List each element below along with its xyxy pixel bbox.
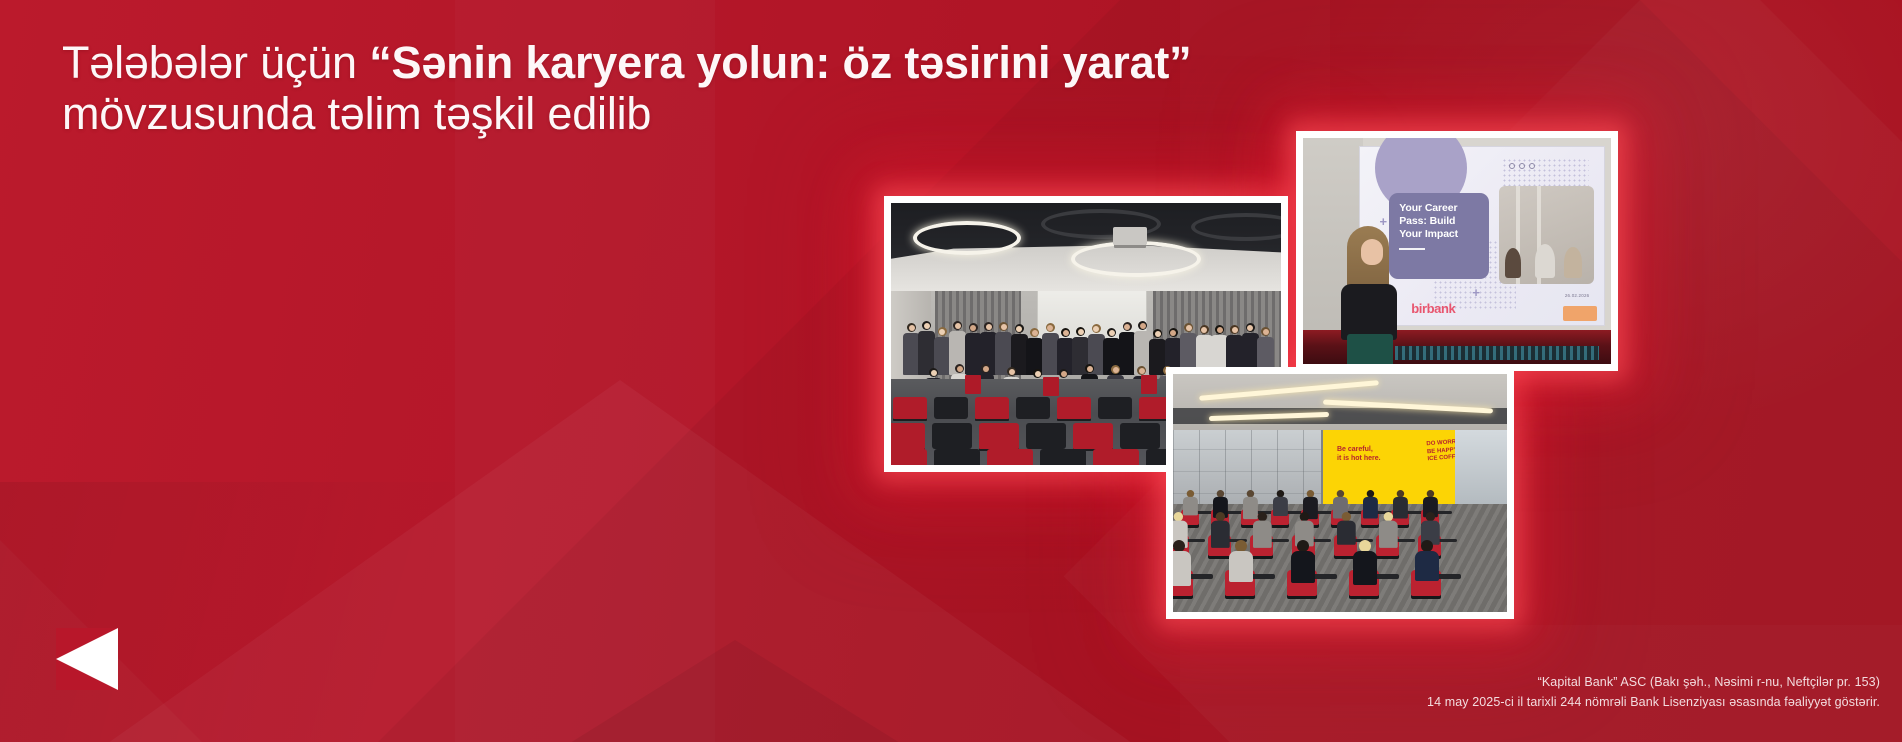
kapital-bank-promo-banner: Tələbələr üçün “Sənin karyera yolun: öz … bbox=[0, 0, 1902, 742]
person bbox=[1291, 540, 1315, 583]
page-title: Tələbələr üçün “Sənin karyera yolun: öz … bbox=[62, 38, 1362, 140]
red-folder bbox=[965, 375, 981, 394]
presenter-figure bbox=[1333, 226, 1405, 364]
chair bbox=[932, 423, 972, 449]
slide-circle-trio bbox=[1509, 163, 1535, 169]
headline-line1-prefix: Tələbələr üçün bbox=[62, 37, 369, 88]
slide-inset-photo bbox=[1499, 186, 1594, 284]
ceiling-projector bbox=[1113, 227, 1147, 245]
presenter-photo-slide: + + + Your Career Pass: Build Your Impac… bbox=[1296, 131, 1618, 371]
chair bbox=[979, 423, 1019, 449]
chair bbox=[1093, 449, 1139, 465]
chair bbox=[1073, 423, 1113, 449]
slide-brand-logo: birbank bbox=[1411, 301, 1455, 316]
background-corner-shade bbox=[0, 482, 620, 742]
red-folder bbox=[1043, 377, 1059, 396]
slide-date: 26.02.2026 bbox=[1565, 293, 1590, 298]
headline-line1-quoted: “Sənin karyera yolun: öz təsirini yarat” bbox=[369, 37, 1191, 88]
person bbox=[1379, 512, 1398, 548]
wall-caption-hot: Be careful,it is hot here. bbox=[1337, 446, 1381, 464]
slide-title: Your Career Pass: Build Your Impact bbox=[1399, 202, 1479, 240]
kapital-bank-logo[interactable] bbox=[56, 628, 118, 690]
chair bbox=[1016, 397, 1050, 419]
chair bbox=[975, 397, 1009, 419]
presenter-photo-scene: + + + Your Career Pass: Build Your Impac… bbox=[1303, 138, 1611, 364]
ceiling-ring-light-2 bbox=[1071, 241, 1201, 277]
classroom-seating-rows bbox=[1173, 494, 1507, 612]
chair bbox=[891, 423, 925, 449]
chair bbox=[893, 397, 927, 419]
floor-reflection bbox=[1395, 346, 1598, 360]
chair bbox=[934, 397, 968, 419]
legal-line-2: 14 may 2025-ci il tarixli 244 nömrəli Ba… bbox=[1427, 693, 1880, 712]
person bbox=[1415, 540, 1439, 581]
chair bbox=[1026, 423, 1066, 449]
person bbox=[1229, 540, 1253, 582]
person bbox=[1363, 490, 1378, 519]
presenter-skirt bbox=[1347, 334, 1393, 364]
audience-photo-scene: Be careful,it is hot here. DO WORRY,BE H… bbox=[1173, 374, 1507, 612]
chair bbox=[987, 449, 1033, 465]
chair bbox=[1040, 449, 1086, 465]
person bbox=[1173, 540, 1191, 586]
legal-line-1: “Kapital Bank” ASC (Bakı şəh., Nəsimi r-… bbox=[1427, 673, 1880, 692]
slide-orange-block bbox=[1563, 306, 1597, 321]
chair bbox=[1057, 397, 1091, 419]
chair bbox=[1120, 423, 1160, 449]
audience-photo-classroom: Be careful,it is hot here. DO WORRY,BE H… bbox=[1166, 367, 1514, 619]
person bbox=[1253, 512, 1272, 548]
presenter-torso bbox=[1341, 284, 1397, 340]
red-folder bbox=[1141, 375, 1157, 394]
chair bbox=[1098, 397, 1132, 419]
ceiling-ring-light-1 bbox=[913, 221, 1021, 255]
person bbox=[1211, 512, 1230, 548]
person bbox=[1273, 490, 1288, 516]
chair bbox=[891, 449, 927, 465]
headline-line2: mövzusunda təlim təşkil edilib bbox=[62, 88, 651, 139]
legal-disclaimer: “Kapital Bank” ASC (Bakı şəh., Nəsimi r-… bbox=[1427, 673, 1880, 712]
chair bbox=[934, 449, 980, 465]
person bbox=[1353, 540, 1377, 585]
slide-plus-2: + bbox=[1472, 286, 1480, 299]
presenter-face bbox=[1361, 239, 1383, 265]
